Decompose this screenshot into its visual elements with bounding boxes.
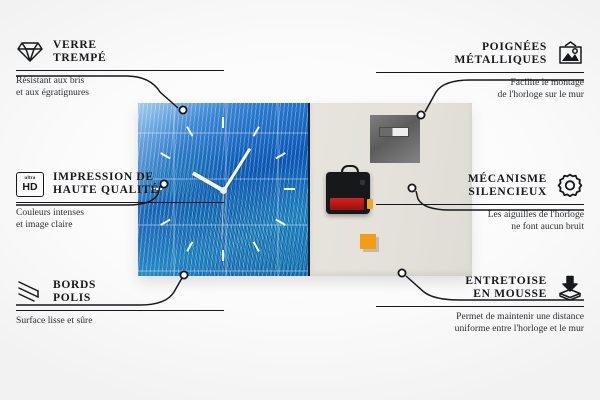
feature-entretoise-en-mousse: ENTRETOISE EN MOUSSE Permet de maintenir… xyxy=(376,274,584,334)
feature-title: MÉCANISME SILENCIEUX xyxy=(468,173,547,200)
feature-description: Les aiguilles de l'horloge ne font aucun… xyxy=(376,209,584,232)
feature-impression-haute-qualite: ultra HD IMPRESSION DE HAUTE QUALITÉ Cou… xyxy=(16,170,224,230)
feature-header: BORDS POLIS xyxy=(16,278,224,306)
metal-hanger-plate xyxy=(370,115,420,163)
mechanism-hook xyxy=(341,165,359,177)
feature-title: IMPRESSION DE HAUTE QUALITÉ xyxy=(53,171,159,198)
clock-tick xyxy=(222,117,224,128)
battery-terminal xyxy=(367,199,373,209)
divider xyxy=(376,306,584,307)
foam-spacer-arrow-icon xyxy=(556,274,584,302)
feature-verre-trempe: VERRE TREMPÉ Résistant aux bris et aux é… xyxy=(16,38,224,98)
clock-tick xyxy=(222,250,224,261)
feature-description: Facilite le montage de l'horloge sur le … xyxy=(376,77,584,100)
hanger-slot xyxy=(379,127,409,137)
feature-title: BORDS POLIS xyxy=(53,279,96,306)
feature-title: ENTRETOISE EN MOUSSE xyxy=(465,275,547,302)
divider xyxy=(376,204,584,205)
feature-header: ultra HD IMPRESSION DE HAUTE QUALITÉ xyxy=(16,170,224,198)
feature-title: POIGNÉES MÉTALLIQUES xyxy=(455,41,547,68)
diamond-icon xyxy=(16,38,44,66)
feature-header: MÉCANISME SILENCIEUX xyxy=(376,172,584,200)
feature-bords-polis: BORDS POLIS Surface lisse et sûre xyxy=(16,278,224,327)
divider xyxy=(16,310,224,311)
feature-description: Surface lisse et sûre xyxy=(16,315,224,327)
clock-tick xyxy=(284,188,295,190)
feature-header: POIGNÉES MÉTALLIQUES xyxy=(376,40,584,68)
mechanism-detail xyxy=(360,180,365,185)
feature-poignees-metalliques: POIGNÉES MÉTALLIQUES Facilite le montage… xyxy=(376,40,584,100)
feature-description: Couleurs intenses et image claire xyxy=(16,207,224,230)
battery xyxy=(330,198,364,210)
polished-edges-icon xyxy=(16,278,44,306)
infographic-canvas: VERRE TREMPÉ Résistant aux bris et aux é… xyxy=(0,0,600,400)
gear-icon xyxy=(556,172,584,200)
feature-mecanisme-silencieux: MÉCANISME SILENCIEUX Les aiguilles de l'… xyxy=(376,172,584,232)
feature-description: Permet de maintenir une distance uniform… xyxy=(376,311,584,334)
picture-frame-hanger-icon xyxy=(556,40,584,68)
feature-header: ENTRETOISE EN MOUSSE xyxy=(376,274,584,302)
ultra-hd-icon: ultra HD xyxy=(16,170,44,198)
feature-title: VERRE TREMPÉ xyxy=(53,39,106,66)
silent-clock-mechanism xyxy=(326,172,370,214)
foam-spacer-pad xyxy=(360,234,376,249)
divider xyxy=(16,202,224,203)
feature-header: VERRE TREMPÉ xyxy=(16,38,224,66)
divider xyxy=(376,72,584,73)
divider xyxy=(16,70,224,71)
feature-description: Résistant aux bris et aux égratignures xyxy=(16,75,224,98)
